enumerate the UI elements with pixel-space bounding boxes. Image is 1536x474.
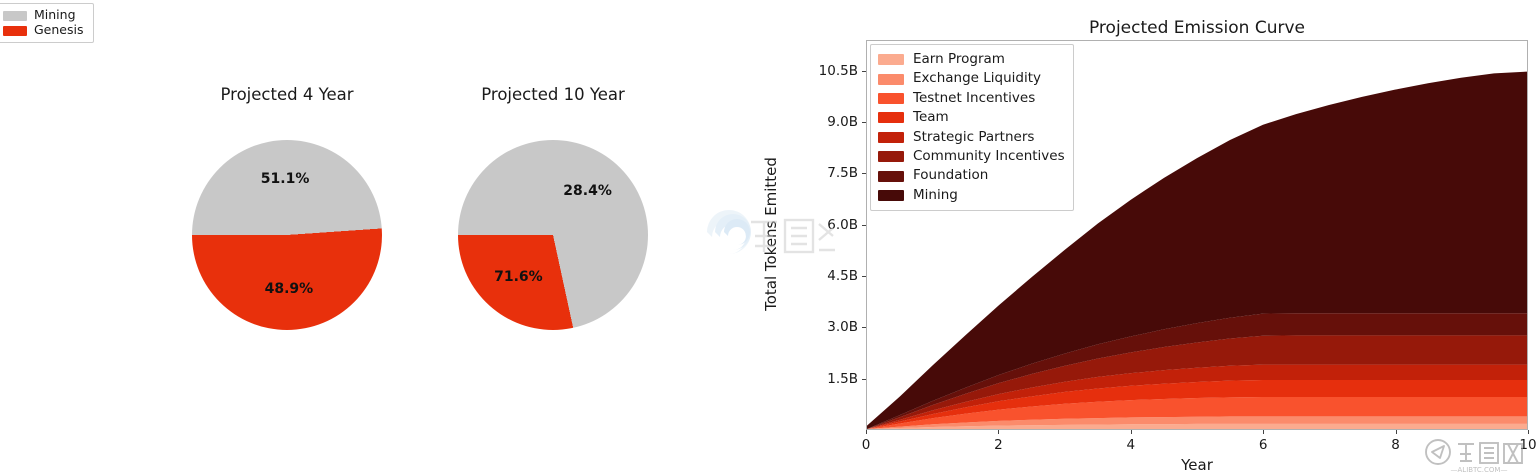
emission-legend-item-foundation[interactable]: Foundation (878, 166, 1065, 185)
y-tick-label-6: 10.5B (802, 63, 858, 79)
x-tick-label-5: 10 (1519, 437, 1536, 453)
emission-legend-item-team[interactable]: Team (878, 108, 1065, 127)
emission-legend-swatch-7 (878, 190, 904, 201)
figure-canvas: Mining Genesis Projected 4 Year 51.1% 48… (0, 0, 1536, 474)
y-tick-label-1: 3.0B (802, 319, 858, 335)
emission-legend-swatch-5 (878, 151, 904, 162)
legend-item-genesis[interactable]: Genesis (3, 23, 89, 38)
x-tick-label-0: 0 (862, 437, 871, 453)
y-tick-label-4: 7.5B (802, 165, 858, 181)
pie-chart-10-year[interactable] (458, 140, 648, 330)
legend-label-genesis: Genesis (34, 24, 84, 37)
pie-slices-4-year (192, 140, 382, 330)
x-tick-mark-2 (1131, 430, 1132, 434)
emission-legend-item-testnet-incentives[interactable]: Testnet Incentives (878, 89, 1065, 108)
x-tick-mark-5 (1528, 430, 1529, 434)
emission-legend-swatch-0 (878, 54, 904, 65)
emission-legend-item-earn-program[interactable]: Earn Program (878, 50, 1065, 69)
y-tick-label-0: 1.5B (802, 371, 858, 387)
emission-legend-item-mining[interactable]: Mining (878, 186, 1065, 205)
emission-legend-label-4: Strategic Partners (913, 131, 1034, 145)
x-tick-mark-4 (1396, 430, 1397, 434)
x-tick-label-2: 4 (1127, 437, 1136, 453)
emission-legend-item-exchange-liquidity[interactable]: Exchange Liquidity (878, 69, 1065, 88)
y-tick-label-5: 9.0B (802, 114, 858, 130)
emission-legend-label-1: Exchange Liquidity (913, 72, 1041, 86)
pie-chart-4-year[interactable] (192, 140, 382, 330)
pie-slices-10-year (458, 140, 648, 330)
x-tick-label-3: 6 (1259, 437, 1268, 453)
pie-label-mining-10-year: 71.6% (484, 269, 552, 285)
legend-label-mining: Mining (34, 9, 76, 22)
emission-legend-item-community-incentives[interactable]: Community Incentives (878, 147, 1065, 166)
x-tick-label-1: 2 (994, 437, 1003, 453)
pie-label-genesis-4-year: 51.1% (251, 171, 319, 187)
emission-legend-label-7: Mining (913, 189, 958, 203)
emission-legend-swatch-4 (878, 132, 904, 143)
emission-x-axis-label: Year (866, 456, 1528, 474)
emission-legend-swatch-3 (878, 112, 904, 123)
y-tick-label-2: 4.5B (802, 268, 858, 284)
emission-legend-label-5: Community Incentives (913, 150, 1065, 164)
emission-legend-item-strategic-partners[interactable]: Strategic Partners (878, 128, 1065, 147)
pie-legend: Mining Genesis (0, 3, 94, 43)
pie-label-genesis-10-year: 28.4% (554, 183, 622, 199)
emission-legend-label-3: Team (913, 111, 949, 125)
x-tick-mark-1 (998, 430, 999, 434)
emission-chart-title: Projected Emission Curve (866, 18, 1528, 38)
legend-item-mining[interactable]: Mining (3, 8, 89, 23)
x-tick-mark-3 (1263, 430, 1264, 434)
emission-legend-label-2: Testnet Incentives (913, 92, 1035, 106)
emission-legend-label-0: Earn Program (913, 53, 1005, 67)
x-tick-label-4: 8 (1391, 437, 1400, 453)
pie-label-mining-4-year: 48.9% (255, 281, 323, 297)
emission-legend-swatch-2 (878, 93, 904, 104)
pie-title-10-year: Projected 10 Year (393, 85, 713, 104)
x-tick-mark-0 (866, 430, 867, 434)
legend-swatch-genesis (3, 26, 27, 36)
emission-legend-swatch-1 (878, 74, 904, 85)
emission-legend-swatch-6 (878, 171, 904, 182)
emission-legend: Earn ProgramExchange LiquidityTestnet In… (870, 44, 1074, 211)
legend-swatch-mining (3, 11, 27, 21)
emission-legend-label-6: Foundation (913, 169, 988, 183)
y-tick-label-3: 6.0B (802, 217, 858, 233)
